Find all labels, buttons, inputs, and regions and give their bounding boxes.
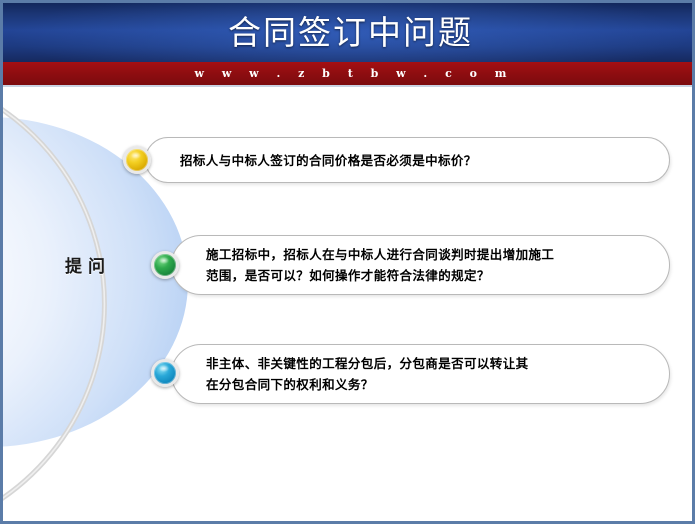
question-1-line-1: 招标人与中标人签订的合同价格是否必须是中标价？: [180, 150, 651, 171]
page-title: 合同签订中问题: [3, 7, 695, 59]
website-url-text: w w w . z b t b w . c o m: [3, 62, 695, 85]
blue-sphere-icon: [151, 359, 179, 387]
green-sphere-icon: [151, 251, 179, 279]
question-bubble-1-text: 招标人与中标人签订的合同价格是否必须是中标价？: [180, 138, 651, 182]
question-bubble-3-text: 非主体、非关键性的工程分包后，分包商是否可以转让其 在分包合同下的权利和义务？: [206, 345, 651, 403]
question-3-line-1: 非主体、非关键性的工程分包后，分包商是否可以转让其: [206, 353, 651, 374]
gold-sphere-icon: [123, 146, 151, 174]
question-bubble-1[interactable]: 招标人与中标人签订的合同价格是否必须是中标价？: [145, 137, 670, 183]
question-bubble-3[interactable]: 非主体、非关键性的工程分包后，分包商是否可以转让其 在分包合同下的权利和义务？: [171, 344, 670, 404]
question-3-line-2: 在分包合同下的权利和义务？: [206, 374, 651, 395]
slide-body: 提问 招标人与中标人签订的合同价格是否必须是中标价？ 施工招标中，招标人在与中标…: [3, 87, 692, 524]
website-bar: w w w . z b t b w . c o m: [3, 62, 695, 85]
recycle-cycle-arrows-logo-icon: [600, 519, 684, 524]
question-2-line-2: 范围，是否可以？如何操作才能符合法律的规定？: [206, 265, 651, 286]
slide-header: 合同签订中问题: [3, 3, 695, 62]
presentation-slide: 合同签订中问题 w w w . z b t b w . c o m 提问 招标人…: [0, 0, 695, 524]
left-caption-label: 提问: [25, 252, 145, 277]
question-bubble-2[interactable]: 施工招标中，招标人在与中标人进行合同谈判时提出增加施工 范围，是否可以？如何操作…: [171, 235, 670, 295]
question-2-line-1: 施工招标中，招标人在与中标人进行合同谈判时提出增加施工: [206, 244, 651, 265]
question-bubble-2-text: 施工招标中，招标人在与中标人进行合同谈判时提出增加施工 范围，是否可以？如何操作…: [206, 236, 651, 294]
